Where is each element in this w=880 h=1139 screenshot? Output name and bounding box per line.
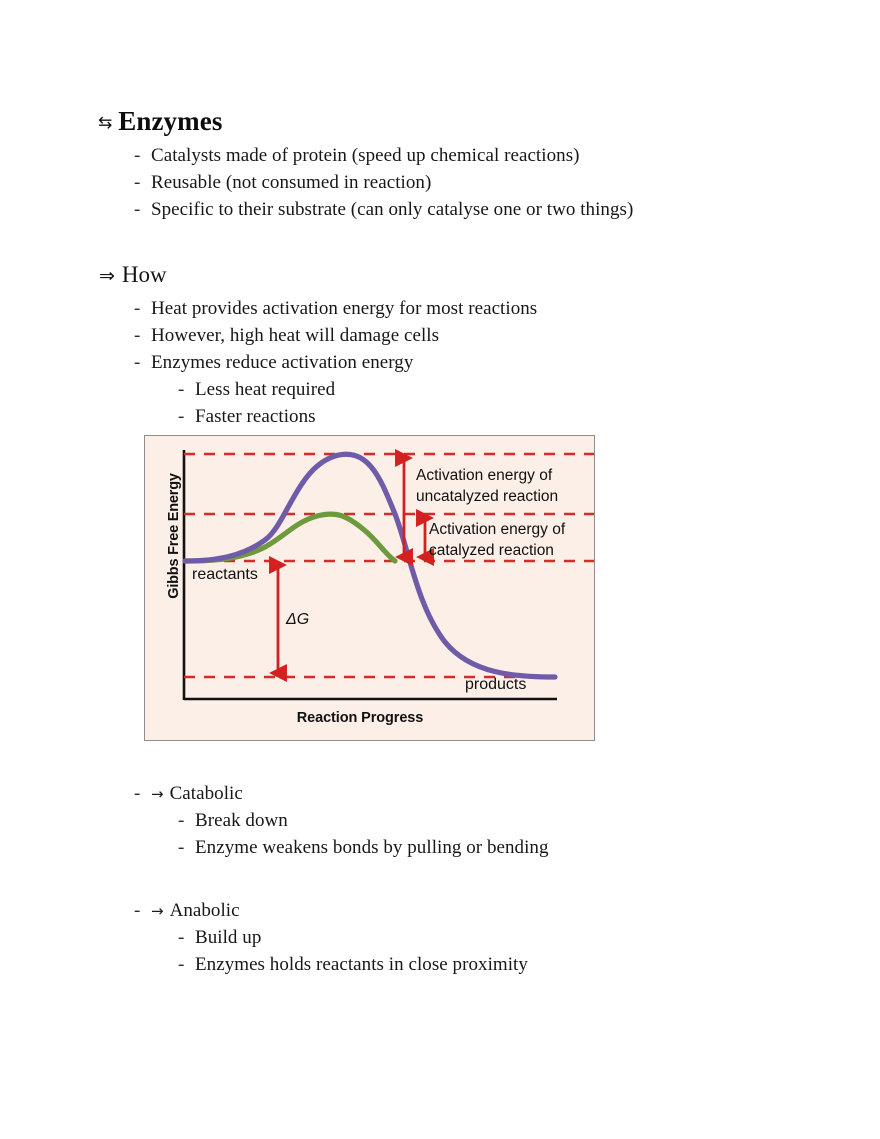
right-arrow-icon: → (151, 902, 164, 920)
list-item: - Catalysts made of protein (speed up ch… (134, 145, 580, 167)
bullet-marker: - (134, 783, 151, 805)
list-item-label: Catabolic (170, 783, 243, 805)
reversible-reaction-arrow-icon: ⇆ (98, 115, 112, 132)
list-item: - Enzyme weakens bonds by pulling or ben… (178, 837, 549, 859)
bullet-marker: - (134, 298, 151, 320)
bullet-marker: - (178, 810, 195, 832)
list-item-label: However, high heat will damage cells (151, 325, 439, 347)
right-arrow-icon: → (151, 785, 164, 803)
list-item: - Reusable (not consumed in reaction) (134, 172, 431, 194)
double-right-arrow-icon: ⇒ (99, 267, 115, 286)
bullet-marker: - (134, 172, 151, 194)
list-item-label: Enzymes reduce activation energy (151, 352, 413, 374)
annotation-line: uncatalyzed reaction (416, 487, 558, 508)
y-axis-label: Gibbs Free Energy (166, 461, 182, 611)
annotation-line: Activation energy of (429, 520, 565, 541)
list-item: - Less heat required (178, 379, 335, 401)
list-item-catabolic: - → Catabolic (134, 783, 243, 805)
list-item: - However, high heat will damage cells (134, 325, 439, 347)
annotation-activation-energy-uncatalyzed: Activation energy of uncatalyzed reactio… (416, 466, 558, 507)
list-item-label: Reusable (not consumed in reaction) (151, 172, 431, 194)
bullet-marker: - (134, 325, 151, 347)
list-item-label: Heat provides activation energy for most… (151, 298, 537, 320)
annotation-activation-energy-catalyzed: Activation energy of catalyzed reaction (429, 520, 565, 561)
delta-g-label: ΔG (286, 611, 309, 629)
bullet-marker: - (178, 954, 195, 976)
annotation-line: Activation energy of (416, 466, 558, 487)
bullet-marker: - (178, 837, 195, 859)
list-item-anabolic: - → Anabolic (134, 900, 240, 922)
bullet-marker: - (134, 145, 151, 167)
list-item: - Enzymes reduce activation energy (134, 352, 413, 374)
x-axis-label: Reaction Progress (145, 710, 575, 726)
document-page: ⇆ Enzymes - Catalysts made of protein (s… (0, 0, 880, 1139)
bullet-marker: - (178, 406, 195, 428)
list-item-label: Specific to their substrate (can only ca… (151, 199, 633, 221)
bullet-marker: - (134, 900, 151, 922)
list-item: - Break down (178, 810, 288, 832)
list-item: - Heat provides activation energy for mo… (134, 298, 537, 320)
bullet-marker: - (178, 379, 195, 401)
list-item-label: Enzymes holds reactants in close proximi… (195, 954, 528, 976)
products-label: products (465, 676, 526, 694)
heading-how: ⇒ How (99, 262, 167, 288)
bullet-marker: - (134, 199, 151, 221)
annotation-line: catalyzed reaction (429, 541, 565, 562)
page-title: Enzymes (118, 106, 222, 137)
section-title: How (122, 262, 167, 288)
bullet-marker: - (134, 352, 151, 374)
heading-enzymes: ⇆ Enzymes (98, 106, 222, 137)
list-item: - Build up (178, 927, 261, 949)
list-item: - Specific to their substrate (can only … (134, 199, 633, 221)
list-item-label: Anabolic (170, 900, 240, 922)
list-item: - Faster reactions (178, 406, 316, 428)
list-item-label: Break down (195, 810, 288, 832)
list-item: - Enzymes holds reactants in close proxi… (178, 954, 528, 976)
list-item-label: Enzyme weakens bonds by pulling or bendi… (195, 837, 549, 859)
list-item-label: Faster reactions (195, 406, 316, 428)
bullet-marker: - (178, 927, 195, 949)
catalyzed-reaction-curve (185, 514, 395, 561)
reactants-label: reactants (192, 566, 258, 584)
list-item-label: Less heat required (195, 379, 335, 401)
activation-energy-diagram: Gibbs Free Energy Reaction Progress reac… (144, 435, 595, 741)
list-item-label: Build up (195, 927, 261, 949)
list-item-label: Catalysts made of protein (speed up chem… (151, 145, 580, 167)
